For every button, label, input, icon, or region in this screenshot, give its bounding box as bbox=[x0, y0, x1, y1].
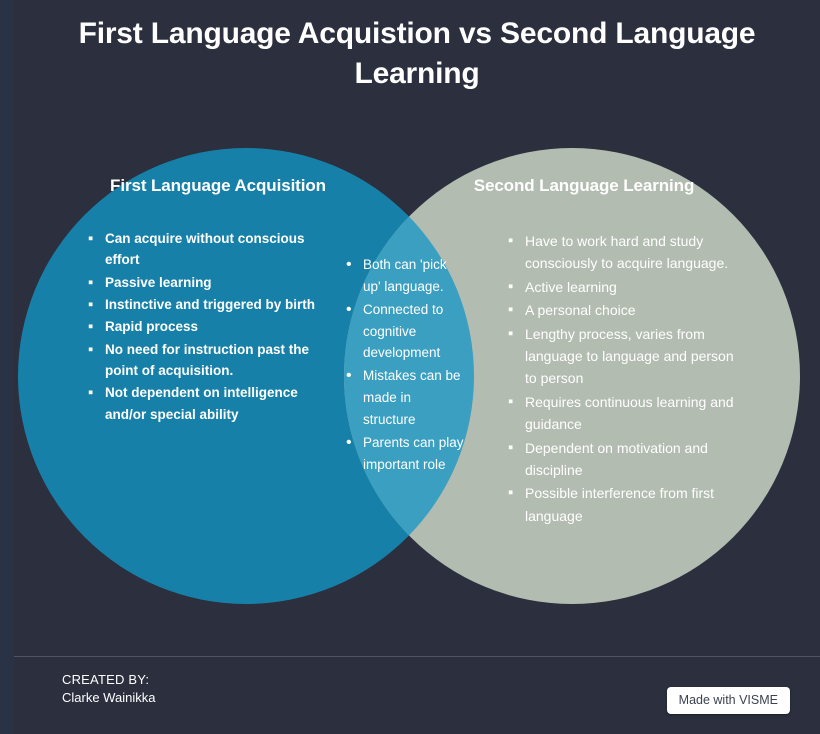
list-item: Mistakes can be made in structure bbox=[346, 365, 464, 431]
list-item: Passive learning bbox=[88, 272, 320, 293]
list-item: Rapid process bbox=[88, 316, 320, 337]
venn-right-heading: Second Language Learning bbox=[448, 176, 720, 196]
list-item: Not dependent on intelligence and/or spe… bbox=[88, 382, 320, 425]
created-by-label: CREATED BY: bbox=[62, 671, 155, 689]
list-item: Can acquire without conscious effort bbox=[88, 228, 320, 271]
footer-divider bbox=[14, 656, 820, 657]
list-item: A personal choice bbox=[508, 299, 748, 321]
venn-overlap-list: Both can 'pick up' language. Connected t… bbox=[346, 254, 464, 477]
list-item: Both can 'pick up' language. bbox=[346, 254, 464, 298]
author-name: Clarke Wainikka bbox=[62, 689, 155, 707]
made-with-visme-badge[interactable]: Made with VISME bbox=[667, 687, 790, 714]
list-item: Have to work hard and study consciously … bbox=[508, 230, 748, 275]
list-item: Active learning bbox=[508, 276, 748, 298]
venn-left-list: Can acquire without conscious effort Pas… bbox=[88, 228, 320, 426]
venn-right-list: Have to work hard and study consciously … bbox=[508, 230, 748, 528]
created-by-block: CREATED BY: Clarke Wainikka bbox=[62, 671, 155, 708]
page-title: First Language Acquistion vs Second Lang… bbox=[60, 14, 774, 93]
list-item: No need for instruction past the point o… bbox=[88, 339, 320, 382]
venn-left-heading: First Language Acquisition bbox=[82, 176, 354, 196]
list-item: Dependent on motivation and discipline bbox=[508, 437, 748, 482]
list-item: Instinctive and triggered by birth bbox=[88, 294, 320, 315]
list-item: Requires continuous learning and guidanc… bbox=[508, 391, 748, 436]
list-item: Possible interference from first languag… bbox=[508, 482, 748, 527]
list-item: Lengthy process, varies from language to… bbox=[508, 323, 748, 390]
list-item: Connected to cognitive development bbox=[346, 299, 464, 365]
list-item: Parents can play important role bbox=[346, 432, 464, 476]
venn-diagram: First Language Acquisition Can acquire w… bbox=[0, 130, 820, 640]
